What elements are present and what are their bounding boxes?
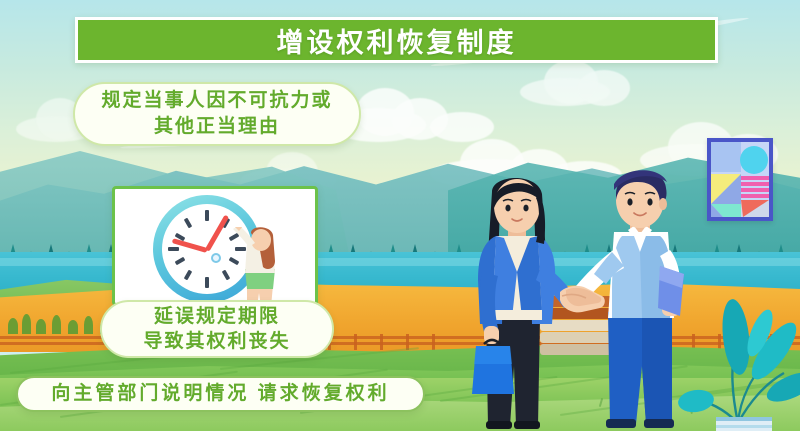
clock-card	[112, 186, 318, 306]
consequence-line-1: 延误规定期限	[154, 304, 280, 329]
potted-plant-icon	[654, 291, 800, 431]
clock-center-hub	[211, 253, 221, 263]
slide-canvas: 增设权利恢复制度 规定当事人因不可抗力或 其他正当理由	[0, 0, 800, 431]
handshake-icon	[556, 280, 608, 318]
consequence-bubble: 延误规定期限 导致其权利丧失	[100, 300, 334, 358]
page-title: 增设权利恢复制度	[277, 21, 517, 60]
condition-line-2: 其他正当理由	[154, 114, 280, 140]
consequence-line-2: 导致其权利丧失	[143, 329, 290, 354]
condition-line-1: 规定当事人因不可抗力或	[101, 88, 332, 114]
title-banner: 增设权利恢复制度	[75, 17, 718, 63]
abstract-art-icon	[711, 142, 769, 217]
remedy-bubble: 向主管部门说明情况 请求恢复权利	[16, 376, 425, 412]
framed-artwork	[707, 138, 773, 221]
plant-illustration	[654, 291, 800, 431]
condition-bubble: 规定当事人因不可抗力或 其他正当理由	[73, 82, 361, 146]
artwork-canvas	[711, 142, 769, 217]
remedy-line-1: 向主管部门说明情况 请求恢复权利	[51, 383, 389, 405]
clasped-hands-icon	[556, 280, 608, 318]
